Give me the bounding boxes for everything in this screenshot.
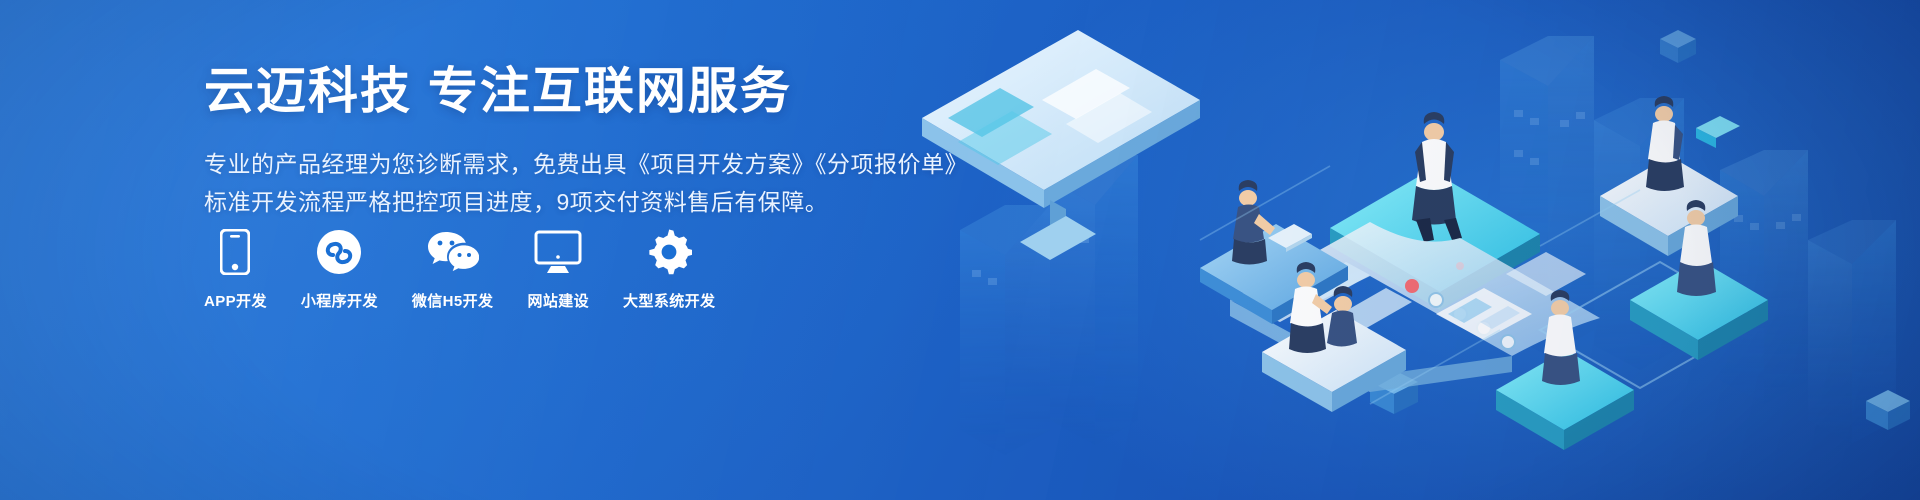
service-label: 小程序开发 (301, 290, 378, 311)
wechat-icon (427, 228, 479, 276)
service-item-large-system[interactable]: 大型系统开发 (623, 228, 715, 311)
monitor-icon (534, 228, 582, 276)
page-title: 云迈科技 专注互联网服务 (204, 62, 924, 121)
service-label: 大型系统开发 (623, 290, 715, 311)
mobile-phone-icon (220, 228, 250, 276)
banner-copy: 云迈科技 专注互联网服务 专业的产品经理为您诊断需求，免费出具《项目开发方案》《… (204, 62, 924, 219)
gear-icon (646, 228, 692, 276)
service-label: APP开发 (204, 290, 267, 311)
service-item-website[interactable]: 网站建设 (527, 228, 589, 311)
mini-program-icon (316, 228, 362, 276)
subtitle-line-1: 专业的产品经理为您诊断需求，免费出具《项目开发方案》《分项报价单》 (204, 147, 924, 181)
subtitle-line-2: 标准开发流程严格把控项目进度，9项交付资料售后有保障。 (204, 185, 924, 219)
service-item-mini-program[interactable]: 小程序开发 (301, 228, 378, 311)
service-label: 网站建设 (527, 290, 589, 311)
dashboard-screen (922, 30, 1200, 260)
service-item-wechat-h5[interactable]: 微信H5开发 (412, 228, 494, 311)
service-item-app[interactable]: APP开发 (204, 228, 267, 311)
service-label: 微信H5开发 (412, 290, 494, 311)
promo-banner: 云迈科技 专注互联网服务 专业的产品经理为您诊断需求，免费出具《项目开发方案》《… (0, 0, 1920, 500)
service-list: APP开发 小程序开发 (204, 228, 715, 311)
isometric-tech-team-illustration (900, 0, 1920, 500)
